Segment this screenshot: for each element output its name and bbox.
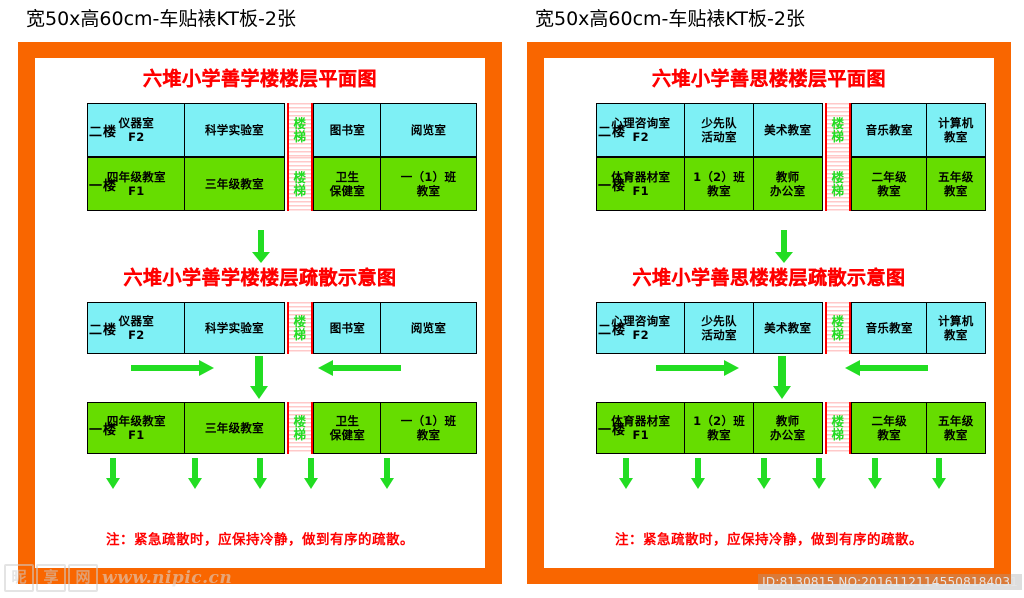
connector-arrow-band <box>35 230 485 266</box>
poster-orange-frame: 六堆小学善思楼楼层平面图 二楼 心理咨询室 F2 少先队 活动室 美术教室 楼梯… <box>527 42 1011 584</box>
stairs-cell[interactable]: 楼梯 <box>287 402 313 454</box>
arrow-down-icon <box>187 458 203 490</box>
evac-rooms-1f: 体育器材室 F1 1（2）班 教室 教师 办公室 楼梯 二年级 教室 五年级 教… <box>596 402 986 454</box>
evac-floor-row-1f: 一楼 体育器材室 F1 1（2）班 教室 教师 办公室 楼梯 二年级 教室 五年… <box>596 402 986 454</box>
room-cell[interactable]: 1（2）班 教室 <box>684 402 754 454</box>
poster-caption: 宽50x高60cm-车贴裱KT板-2张 <box>527 0 1011 38</box>
floor-plan-block: 六堆小学善学楼楼层平面图 二楼 仪器室 F2 科学实验室 楼梯 图书室 阅览室 <box>35 64 485 211</box>
room-cell[interactable]: 卫生 保健室 <box>313 402 381 454</box>
room-cell[interactable]: 科学实验室 <box>184 103 285 157</box>
floor-label-1f: 一楼 <box>596 402 644 454</box>
arrow-down-icon <box>249 356 269 400</box>
stairs-label: 楼梯 <box>831 171 844 197</box>
floor-plan-rows: 二楼 仪器室 F2 科学实验室 楼梯 图书室 阅览室 一楼 <box>35 103 485 211</box>
room-cell[interactable]: 计算机 教室 <box>926 103 986 157</box>
floor-label-2f: 二楼 <box>596 302 644 354</box>
room-cell[interactable]: 五年级 教室 <box>926 157 986 211</box>
stairs-cell[interactable]: 楼梯 <box>287 103 313 157</box>
room-cell[interactable]: 美术教室 <box>753 103 823 157</box>
rooms-1f: 四年级教室 F1 三年级教室 楼梯 卫生 保健室 一（1）班 教室 <box>87 157 477 211</box>
room-cell[interactable]: 阅览室 <box>380 103 477 157</box>
exit-arrows-row <box>596 454 986 494</box>
poster-inner-white: 六堆小学善思楼楼层平面图 二楼 心理咨询室 F2 少先队 活动室 美术教室 楼梯… <box>544 58 994 568</box>
rooms-2f: 心理咨询室 F2 少先队 活动室 美术教室 楼梯 音乐教室 计算机 教室 <box>596 103 986 157</box>
poster-shan-si-lou: 宽50x高60cm-车贴裱KT板-2张 六堆小学善思楼楼层平面图 二楼 心理咨询… <box>527 0 1011 598</box>
arrow-right-icon <box>131 360 215 376</box>
evac-flow-arrows <box>87 354 477 402</box>
room-cell[interactable]: 图书室 <box>313 302 381 354</box>
evacuation-title: 六堆小学善学楼楼层疏散示意图 <box>35 263 485 290</box>
exit-arrows-row <box>87 454 477 494</box>
arrow-down-icon <box>772 356 792 400</box>
room-cell[interactable]: 五年级 教室 <box>926 402 986 454</box>
arrow-down-icon <box>618 458 634 490</box>
room-cell[interactable]: 阅览室 <box>380 302 477 354</box>
floor-label-1f: 一楼 <box>87 157 135 211</box>
room-cell[interactable]: 美术教室 <box>753 302 823 354</box>
evac-floor-row-1f: 一楼 四年级教室 F1 三年级教室 楼梯 卫生 保健室 一（1）班 教室 <box>87 402 477 454</box>
room-cell[interactable]: 教师 办公室 <box>753 157 823 211</box>
arrow-down-icon <box>251 230 271 264</box>
stairs-cell[interactable]: 楼梯 <box>287 157 313 211</box>
arrow-down-icon <box>690 458 706 490</box>
stairs-label: 楼梯 <box>831 415 844 441</box>
stairs-cell[interactable]: 楼梯 <box>287 302 313 354</box>
room-cell[interactable]: 教师 办公室 <box>753 402 823 454</box>
evacuation-note: 注：紧急疏散时，应保持冷静，做到有序的疏散。 <box>544 528 994 548</box>
room-cell[interactable]: 一（1）班 教室 <box>380 157 477 211</box>
poster-inner-white: 六堆小学善学楼楼层平面图 二楼 仪器室 F2 科学实验室 楼梯 图书室 阅览室 <box>35 58 485 568</box>
arrow-down-icon <box>756 458 772 490</box>
arrow-down-icon <box>867 458 883 490</box>
stairs-cell[interactable]: 楼梯 <box>825 103 851 157</box>
floor-label-2f: 二楼 <box>596 103 644 157</box>
evacuation-block: 六堆小学善思楼楼层疏散示意图 二楼 心理咨询室 F2 少先队 活动室 美术教室 … <box>544 263 994 494</box>
room-cell[interactable]: 图书室 <box>313 103 381 157</box>
stairs-label: 楼梯 <box>293 415 306 441</box>
floor-row-2f: 二楼 仪器室 F2 科学实验室 楼梯 图书室 阅览室 <box>87 103 477 157</box>
connector-arrow-band <box>544 230 994 266</box>
floor-row-1f: 一楼 四年级教室 F1 三年级教室 楼梯 卫生 保健室 一（1）班 教室 <box>87 157 477 211</box>
room-cell[interactable]: 二年级 教室 <box>851 157 927 211</box>
screenshot-canvas: 宽50x高60cm-车贴裱KT板-2张 六堆小学善学楼楼层平面图 二楼 仪器室 … <box>0 0 1024 598</box>
room-cell[interactable]: 三年级教室 <box>184 157 285 211</box>
rooms-1f: 体育器材室 F1 1（2）班 教室 教师 办公室 楼梯 二年级 教室 五年级 教… <box>596 157 986 211</box>
arrow-down-icon <box>811 458 827 490</box>
floor-plan-title: 六堆小学善思楼楼层平面图 <box>544 64 994 91</box>
stairs-cell[interactable]: 楼梯 <box>825 302 851 354</box>
floor-label-1f: 一楼 <box>87 402 135 454</box>
floor-plan-rows: 二楼 心理咨询室 F2 少先队 活动室 美术教室 楼梯 音乐教室 计算机 教室 <box>544 103 994 211</box>
floor-plan-title: 六堆小学善学楼楼层平面图 <box>35 64 485 91</box>
room-cell[interactable]: 1（2）班 教室 <box>684 157 754 211</box>
arrow-down-icon <box>931 458 947 490</box>
room-cell[interactable]: 一（1）班 教室 <box>380 402 477 454</box>
evacuation-rows: 二楼 心理咨询室 F2 少先队 活动室 美术教室 楼梯 音乐教室 计算机 教室 <box>544 302 994 494</box>
room-cell[interactable]: 科学实验室 <box>184 302 285 354</box>
arrow-down-icon <box>105 458 121 490</box>
evacuation-note: 注：紧急疏散时，应保持冷静，做到有序的疏散。 <box>35 528 485 548</box>
room-cell[interactable]: 少先队 活动室 <box>684 302 754 354</box>
arrow-left-icon <box>844 360 928 376</box>
floor-label-1f: 一楼 <box>596 157 644 211</box>
evacuation-title: 六堆小学善思楼楼层疏散示意图 <box>544 263 994 290</box>
arrow-left-icon <box>317 360 401 376</box>
arrow-down-icon <box>303 458 319 490</box>
poster-orange-frame: 六堆小学善学楼楼层平面图 二楼 仪器室 F2 科学实验室 楼梯 图书室 阅览室 <box>18 42 502 584</box>
poster-caption: 宽50x高60cm-车贴裱KT板-2张 <box>18 0 502 38</box>
evac-rooms-2f: 仪器室 F2 科学实验室 楼梯 图书室 阅览室 <box>87 302 477 354</box>
rooms-2f: 仪器室 F2 科学实验室 楼梯 图书室 阅览室 <box>87 103 477 157</box>
arrow-down-icon <box>379 458 395 490</box>
arrow-down-icon <box>252 458 268 490</box>
stairs-label: 楼梯 <box>293 117 306 143</box>
evac-floor-row-2f: 二楼 心理咨询室 F2 少先队 活动室 美术教室 楼梯 音乐教室 计算机 教室 <box>596 302 986 354</box>
evac-rooms-1f: 四年级教室 F1 三年级教室 楼梯 卫生 保健室 一（1）班 教室 <box>87 402 477 454</box>
stairs-label: 楼梯 <box>831 117 844 143</box>
room-cell[interactable]: 三年级教室 <box>184 402 285 454</box>
evac-floor-row-2f: 二楼 仪器室 F2 科学实验室 楼梯 图书室 阅览室 <box>87 302 477 354</box>
floor-plan-block: 六堆小学善思楼楼层平面图 二楼 心理咨询室 F2 少先队 活动室 美术教室 楼梯… <box>544 64 994 211</box>
room-cell[interactable]: 少先队 活动室 <box>684 103 754 157</box>
evac-rooms-2f: 心理咨询室 F2 少先队 活动室 美术教室 楼梯 音乐教室 计算机 教室 <box>596 302 986 354</box>
room-cell[interactable]: 计算机 教室 <box>926 302 986 354</box>
stairs-label: 楼梯 <box>831 315 844 341</box>
stairs-cell[interactable]: 楼梯 <box>825 402 851 454</box>
evac-flow-arrows <box>596 354 986 402</box>
floor-row-1f: 一楼 体育器材室 F1 1（2）班 教室 教师 办公室 楼梯 二年级 教室 五年… <box>596 157 986 211</box>
floor-label-2f: 二楼 <box>87 103 135 157</box>
room-cell[interactable]: 音乐教室 <box>851 103 927 157</box>
stairs-label: 楼梯 <box>293 171 306 197</box>
room-cell[interactable]: 音乐教室 <box>851 302 927 354</box>
room-cell[interactable]: 二年级 教室 <box>851 402 927 454</box>
arrow-down-icon <box>774 230 794 264</box>
arrow-right-icon <box>656 360 740 376</box>
stairs-label: 楼梯 <box>293 315 306 341</box>
poster-shan-xue-lou: 宽50x高60cm-车贴裱KT板-2张 六堆小学善学楼楼层平面图 二楼 仪器室 … <box>18 0 502 598</box>
floor-row-2f: 二楼 心理咨询室 F2 少先队 活动室 美术教室 楼梯 音乐教室 计算机 教室 <box>596 103 986 157</box>
stairs-cell[interactable]: 楼梯 <box>825 157 851 211</box>
floor-label-2f: 二楼 <box>87 302 135 354</box>
evacuation-rows: 二楼 仪器室 F2 科学实验室 楼梯 图书室 阅览室 <box>35 302 485 494</box>
evacuation-block: 六堆小学善学楼楼层疏散示意图 二楼 仪器室 F2 科学实验室 楼梯 图书室 阅览… <box>35 263 485 494</box>
room-cell[interactable]: 卫生 保健室 <box>313 157 381 211</box>
